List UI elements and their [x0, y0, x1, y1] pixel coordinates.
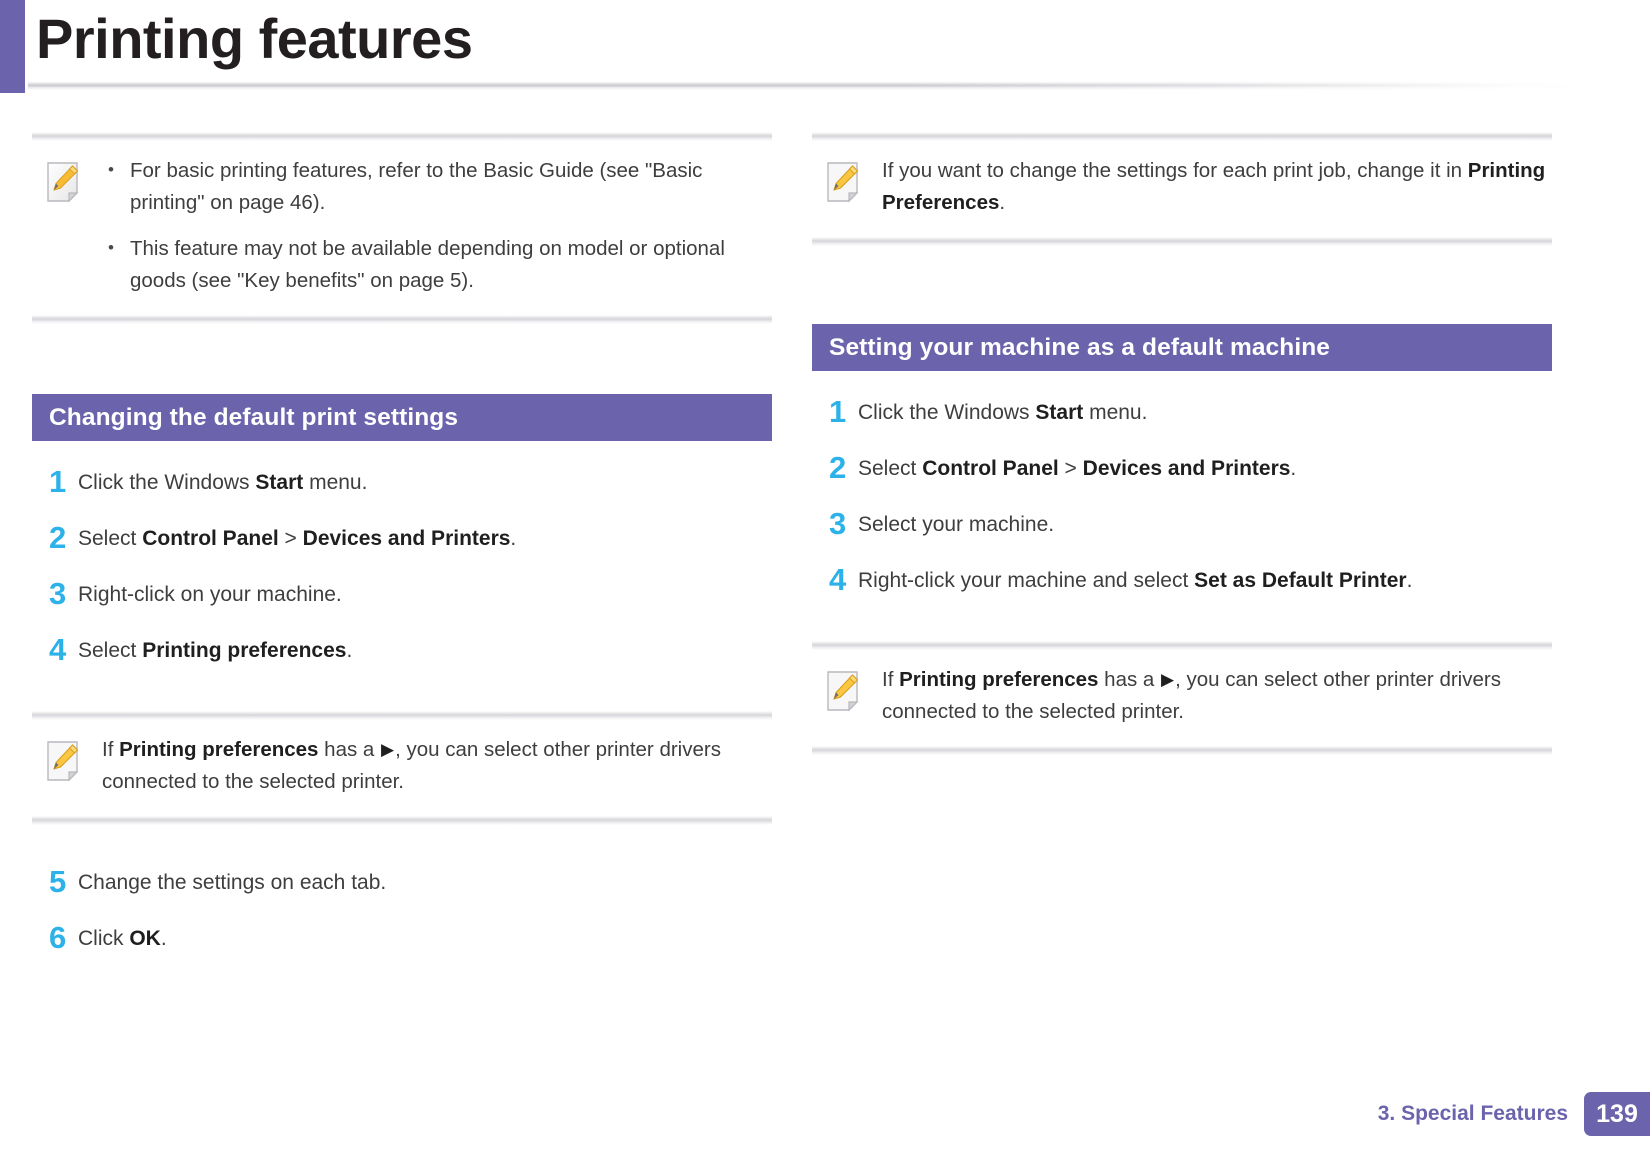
step-text: Select Control Panel > Devices and Print…: [78, 523, 772, 553]
spacer: [32, 665, 772, 709]
note-bullet-item: For basic printing features, refer to th…: [102, 155, 772, 219]
step-item: 2 Select Control Panel > Devices and Pri…: [32, 523, 772, 553]
step-text: Select Printing preferences.: [78, 635, 772, 665]
page-number-badge: 139: [1584, 1092, 1650, 1136]
spacer: [812, 595, 1552, 639]
note-top-rule: [812, 130, 1552, 141]
step-text: Change the settings on each tab.: [78, 867, 772, 897]
section-title: Setting your machine as a default machin…: [812, 334, 1330, 362]
step-item: 6 Click OK.: [32, 923, 772, 953]
note-bottom-rule: [812, 744, 1552, 755]
right-column: If you want to change the settings for e…: [812, 130, 1552, 755]
step-text: Select Control Panel > Devices and Print…: [858, 453, 1552, 483]
note-pencil-icon: [824, 668, 866, 716]
print-job-settings-note-box: If you want to change the settings for e…: [812, 130, 1552, 246]
page-title: Printing features: [36, 2, 472, 76]
header-accent-bar: [0, 0, 25, 93]
spacer: [812, 246, 1552, 324]
step-item: 2 Select Control Panel > Devices and Pri…: [812, 453, 1552, 483]
note-text: If Printing preferences has a ▶, you can…: [882, 664, 1552, 728]
note-pencil-icon: [44, 738, 86, 786]
step-text: Right-click your machine and select Set …: [858, 565, 1552, 595]
steps-list-default-machine: 1 Click the Windows Start menu. 2 Select…: [812, 397, 1552, 595]
section-header-changing-default-print-settings: Changing the default print settings: [32, 394, 772, 441]
step-number: 5: [32, 867, 78, 897]
note-top-rule: [32, 709, 772, 720]
step-text: Right-click on your machine.: [78, 579, 772, 609]
spacer: [32, 324, 772, 394]
step-item: 4 Select Printing preferences.: [32, 635, 772, 665]
step-number: 4: [812, 565, 858, 595]
step-item: 3 Right-click on your machine.: [32, 579, 772, 609]
header-divider-taper: [900, 78, 1600, 90]
note-bullet-list: For basic printing features, refer to th…: [102, 155, 772, 297]
note-body: If Printing preferences has a ▶, you can…: [32, 720, 772, 814]
step-item: 5 Change the settings on each tab.: [32, 867, 772, 897]
note-top-rule: [812, 639, 1552, 650]
left-column: For basic printing features, refer to th…: [32, 130, 772, 953]
note-top-rule: [32, 130, 772, 141]
step-number: 6: [32, 923, 78, 953]
printing-preferences-note-box-right: If Printing preferences has a ▶, you can…: [812, 639, 1552, 755]
step-number: 1: [812, 397, 858, 427]
step-number: 2: [32, 523, 78, 553]
note-bottom-rule: [812, 235, 1552, 246]
printing-preferences-note-box: If Printing preferences has a ▶, you can…: [32, 709, 772, 825]
step-item: 1 Click the Windows Start menu.: [32, 467, 772, 497]
step-number: 4: [32, 635, 78, 665]
step-number: 1: [32, 467, 78, 497]
step-text: Click the Windows Start menu.: [858, 397, 1552, 427]
step-item: 1 Click the Windows Start menu.: [812, 397, 1552, 427]
note-text: If Printing preferences has a ▶, you can…: [102, 734, 772, 798]
steps-list-changing-default-continued: 5 Change the settings on each tab. 6 Cli…: [32, 867, 772, 953]
step-item: 3 Select your machine.: [812, 509, 1552, 539]
page-footer: 3. Special Features 139: [1378, 1092, 1650, 1136]
steps-list-changing-default: 1 Click the Windows Start menu. 2 Select…: [32, 467, 772, 665]
spacer: [32, 441, 772, 467]
note-bottom-rule: [32, 313, 772, 324]
note-pencil-icon: [824, 159, 866, 207]
note-bottom-rule: [32, 814, 772, 825]
page-header: Printing features: [0, 0, 1650, 95]
note-pencil-icon: [44, 159, 86, 207]
section-header-setting-default-machine: Setting your machine as a default machin…: [812, 324, 1552, 371]
note-text: If you want to change the settings for e…: [882, 155, 1552, 219]
step-number: 3: [32, 579, 78, 609]
footer-chapter-label: 3. Special Features: [1378, 1102, 1584, 1126]
step-number: 2: [812, 453, 858, 483]
note-body: For basic printing features, refer to th…: [32, 141, 772, 313]
step-text: Click OK.: [78, 923, 772, 953]
intro-note-box: For basic printing features, refer to th…: [32, 130, 772, 324]
step-number: 3: [812, 509, 858, 539]
section-title: Changing the default print settings: [32, 404, 458, 432]
step-item: 4 Right-click your machine and select Se…: [812, 565, 1552, 595]
step-text: Click the Windows Start menu.: [78, 467, 772, 497]
note-bullet-item: This feature may not be available depend…: [102, 233, 772, 297]
note-body: If you want to change the settings for e…: [812, 141, 1552, 235]
step-text: Select your machine.: [858, 509, 1552, 539]
note-text: For basic printing features, refer to th…: [102, 155, 772, 297]
spacer: [32, 825, 772, 867]
spacer: [812, 371, 1552, 397]
note-body: If Printing preferences has a ▶, you can…: [812, 650, 1552, 744]
